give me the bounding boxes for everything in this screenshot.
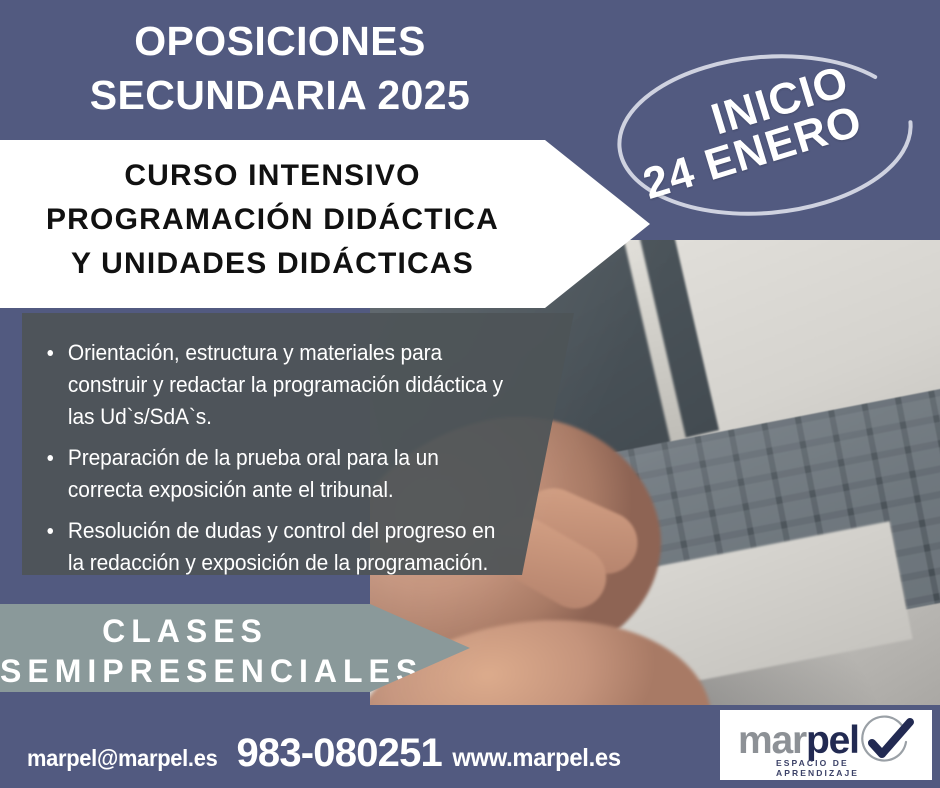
course-line-1: CURSO INTENSIVO	[0, 154, 545, 198]
title-line-2: SECUNDARIA 2025	[0, 68, 560, 122]
page-title: OPOSICIONES SECUNDARIA 2025	[0, 14, 560, 122]
footer-bar: marpel@marpel.es 983-080251 www.marpel.e…	[0, 705, 940, 788]
start-date-badge: INICIO 24 ENERO	[610, 48, 920, 223]
poster-root: OPOSICIONES SECUNDARIA 2025 INICIO 24 EN…	[0, 0, 940, 788]
course-title-banner: CURSO INTENSIVO PROGRAMACIÓN DIDÁCTICA Y…	[0, 140, 650, 308]
list-item: Resolución de dudas y control del progre…	[40, 515, 505, 579]
format-banner-text: CLASES SEMIPRESENCIALES	[0, 604, 370, 691]
format-banner: CLASES SEMIPRESENCIALES	[0, 604, 470, 692]
contact-email[interactable]: marpel@marpel.es	[27, 745, 217, 772]
logo-wordmark: marpel	[738, 719, 859, 763]
list-item: Orientación, estructura y materiales par…	[40, 337, 505, 433]
features-list: Orientación, estructura y materiales par…	[22, 313, 574, 579]
features-panel: Orientación, estructura y materiales par…	[22, 313, 574, 575]
contact-info: marpel@marpel.es 983-080251 www.marpel.e…	[22, 731, 625, 776]
course-line-2: PROGRAMACIÓN DIDÁCTICA	[0, 198, 545, 242]
logo-word-mar: mar	[738, 719, 806, 762]
contact-phone[interactable]: 983-080251	[236, 731, 442, 776]
checkmark-circle-icon	[856, 715, 916, 771]
marpel-logo[interactable]: marpel ESPACIO DE APRENDIZAJE	[720, 710, 932, 780]
course-line-3: Y UNIDADES DIDÁCTICAS	[0, 242, 545, 286]
course-title-text: CURSO INTENSIVO PROGRAMACIÓN DIDÁCTICA Y…	[0, 140, 545, 285]
contact-website[interactable]: www.marpel.es	[452, 744, 620, 773]
list-item: Preparación de la prueba oral para la un…	[40, 442, 505, 506]
logo-word-pel: pel	[806, 719, 859, 762]
title-line-1: OPOSICIONES	[0, 14, 560, 68]
format-line-2: SEMIPRESENCIALES	[0, 652, 370, 692]
format-line-1: CLASES	[0, 612, 370, 652]
